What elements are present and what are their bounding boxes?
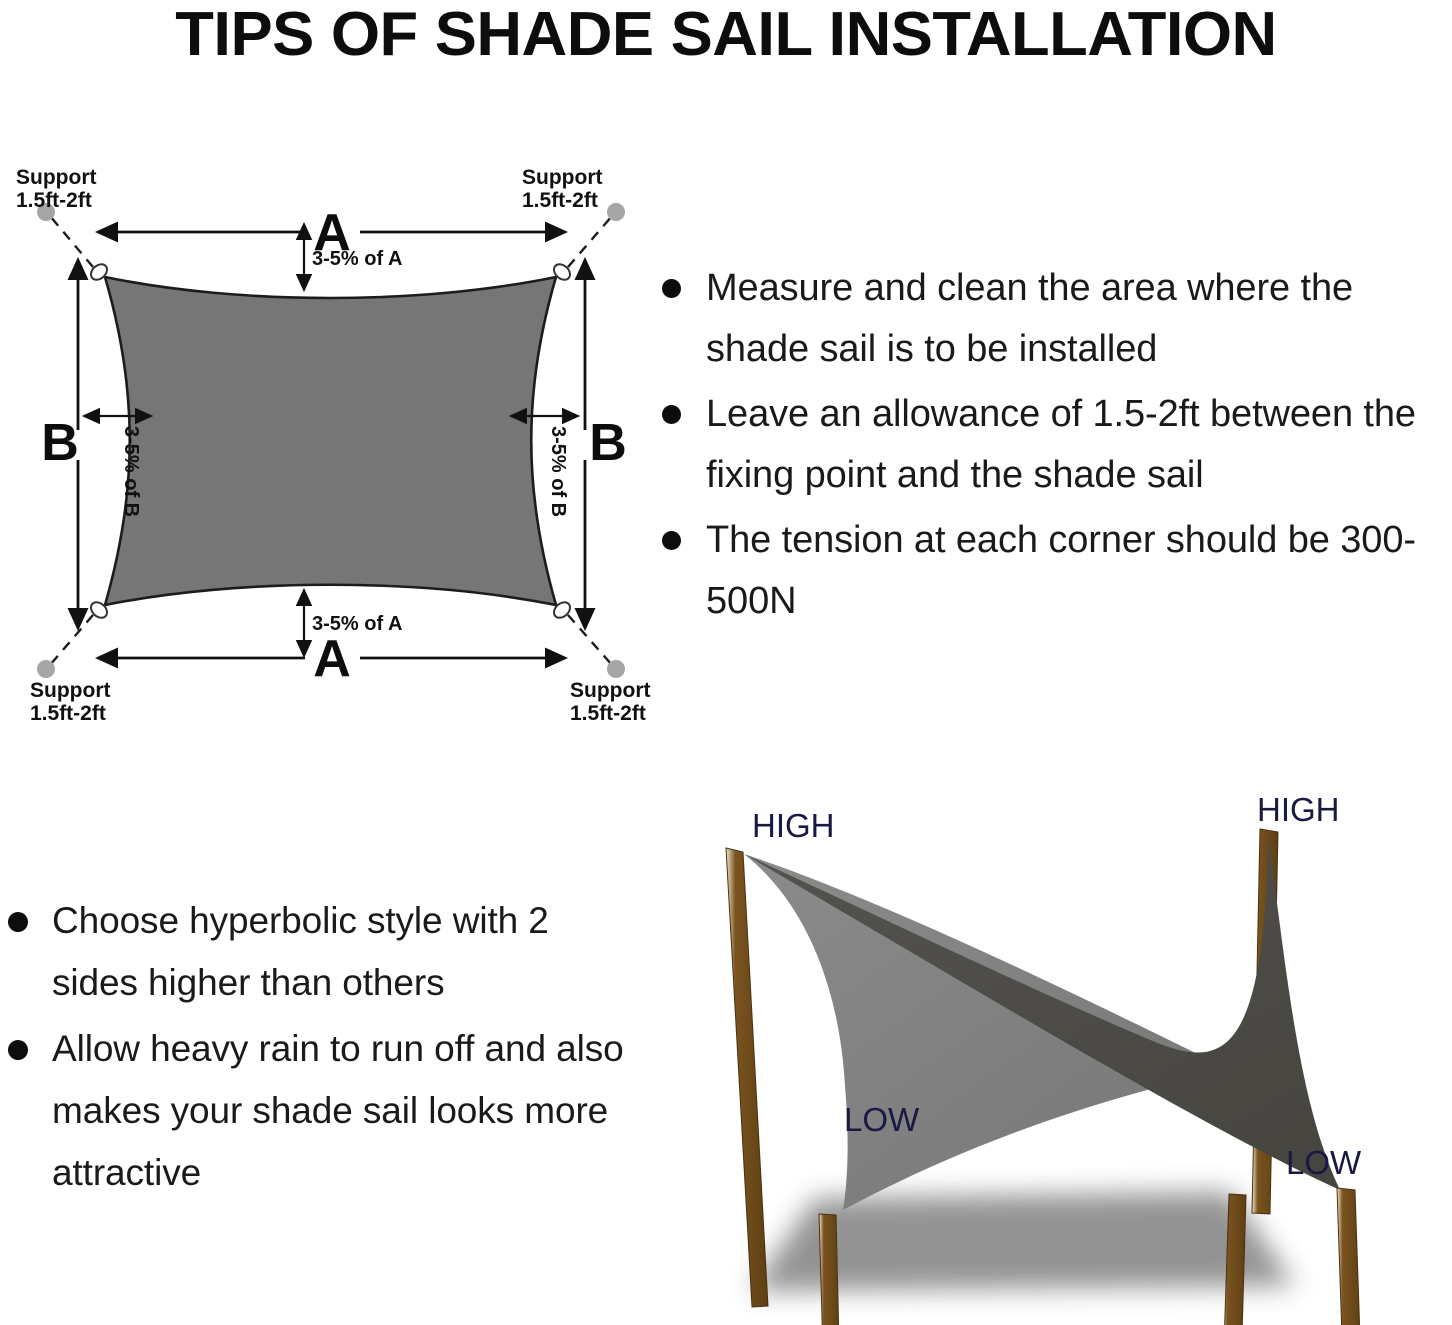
page-title: TIPS OF SHADE SAIL INSTALLATION <box>0 0 1452 72</box>
shade-sail-dimension-diagram: Support 1.5ft-2ft Support 1.5ft-2ft Supp… <box>0 160 660 740</box>
hyperbolic-tip-item: Choose hyperbolic style with 2 sides hig… <box>0 890 630 1014</box>
curvature-right-label: 3-5% of B <box>547 426 569 517</box>
bullet-dot-icon <box>662 531 681 550</box>
tip-item: The tension at each corner should be 300… <box>648 510 1452 632</box>
curvature-left-label: 3-5% of B <box>120 426 142 517</box>
support-line-top-left <box>50 216 93 267</box>
support-label-top-left-line2: 1.5ft-2ft <box>16 189 92 212</box>
bullet-dot-icon <box>8 1040 28 1060</box>
curvature-top-label: 3-5% of A <box>312 248 402 270</box>
support-label-bottom-left-line1: Support <box>30 679 110 702</box>
support-label-top-right-line1: Support <box>522 166 602 189</box>
sail-lobe-dark <box>744 833 1340 1190</box>
support-line-bottom-left <box>50 615 93 665</box>
bullet-dot-icon <box>662 279 681 298</box>
tip-item-text: Measure and clean the area where the sha… <box>706 267 1353 370</box>
support-label-bottom-right-line2: 1.5ft-2ft <box>570 702 646 725</box>
dim-b-right-label: B <box>589 414 627 472</box>
label-low-front: LOW <box>844 1101 920 1138</box>
curvature-bottom-label: 3-5% of A <box>312 613 402 635</box>
bullet-dot-icon <box>662 405 681 424</box>
support-line-top-right <box>568 216 612 267</box>
support-dot-bottom-left <box>37 660 55 678</box>
hyperbolic-tip-text: Choose hyperbolic style with 2 sides hig… <box>52 900 549 1003</box>
dim-b-left-label: B <box>41 414 79 472</box>
support-label-top-left-line1: Support <box>16 166 96 189</box>
support-label-bottom-right-line1: Support <box>570 679 650 702</box>
curvature-left: 3-5% of B <box>100 416 142 517</box>
dimension-a-bottom: A <box>118 630 545 688</box>
label-high-right: HIGH <box>1257 791 1340 828</box>
dim-a-bottom-label: A <box>313 630 351 688</box>
hyperbolic-tip-text: Allow heavy rain to run off and also mak… <box>52 1028 624 1193</box>
support-dot-top-right <box>607 203 625 221</box>
support-line-bottom-right <box>568 615 612 665</box>
sail-lobe-light <box>744 854 1230 1210</box>
label-high-left: HIGH <box>752 807 835 844</box>
tip-item: Measure and clean the area where the sha… <box>648 258 1452 380</box>
pole-low-front <box>819 1214 840 1325</box>
shade-sail-shape <box>105 277 556 605</box>
pole-high-left <box>726 848 768 1307</box>
curvature-bottom: 3-5% of A <box>304 606 402 640</box>
hyperbolic-tip-item: Allow heavy rain to run off and also mak… <box>0 1018 630 1204</box>
tip-item-text: The tension at each corner should be 300… <box>706 519 1416 622</box>
bullet-dot-icon <box>8 912 28 932</box>
support-label-top-right-line2: 1.5ft-2ft <box>522 189 598 212</box>
hyperbolic-sail-illustration: HIGH HIGH LOW LOW <box>640 786 1452 1325</box>
tip-item: Leave an allowance of 1.5-2ft between th… <box>648 384 1452 506</box>
support-dot-bottom-right <box>607 660 625 678</box>
support-label-bottom-left-line2: 1.5ft-2ft <box>30 702 106 725</box>
tip-item-text: Leave an allowance of 1.5-2ft between th… <box>706 393 1416 496</box>
dimension-b-right: B <box>585 280 627 608</box>
dimension-b-left: B <box>41 280 79 608</box>
label-low-right: LOW <box>1286 1144 1362 1181</box>
pole-low-right <box>1337 1188 1362 1325</box>
hyperbolic-style-tips-list: Choose hyperbolic style with 2 sides hig… <box>0 890 630 1260</box>
installation-tips-list: Measure and clean the area where the sha… <box>648 258 1452 678</box>
